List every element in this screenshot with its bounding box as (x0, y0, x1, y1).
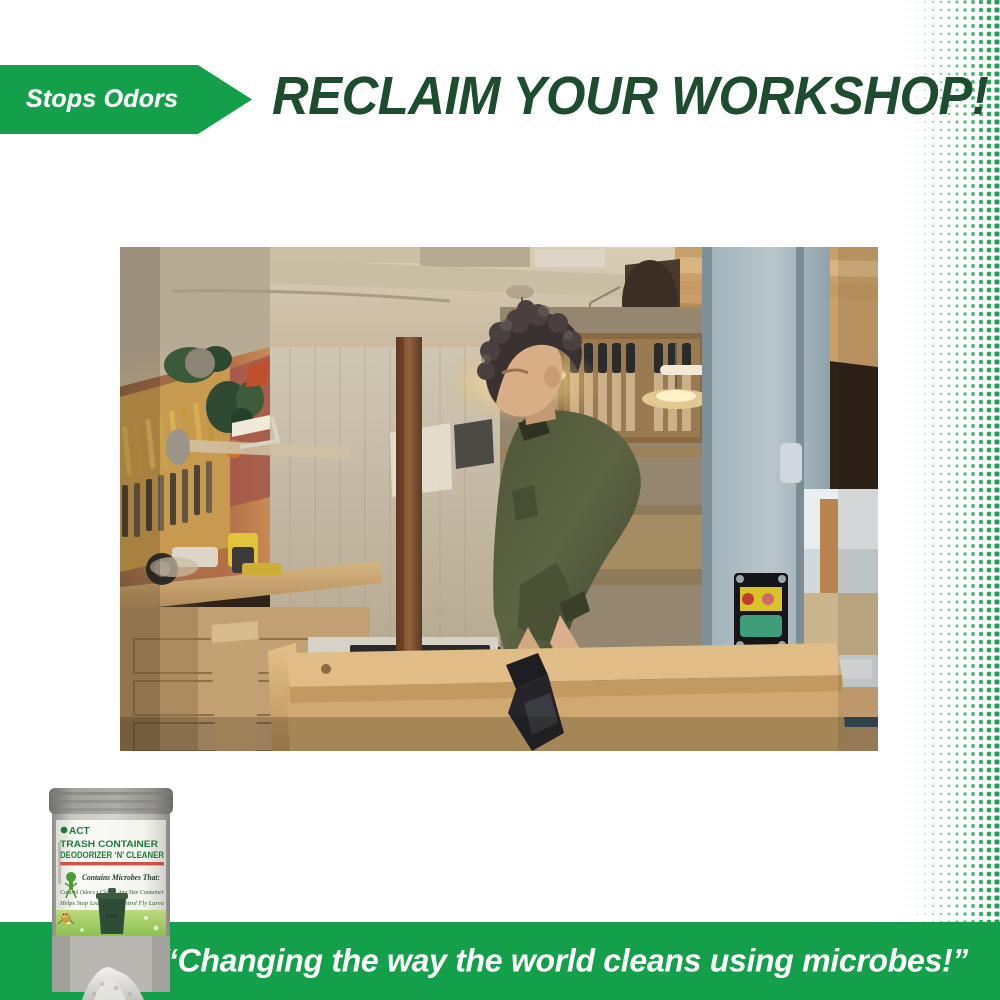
product-bottle: ACT TRASH CONTAINER DEODORIZER ‘N’ CLEAN… (38, 782, 188, 1000)
product-line2: DEODORIZER ‘N’ CLEANER (60, 849, 164, 860)
halftone-dot-pattern (875, 0, 1000, 922)
product-line1: TRASH CONTAINER (60, 838, 158, 849)
badge-label: Stops Odors (0, 85, 178, 114)
workshop-photo (120, 247, 878, 751)
trash-can-illustration (96, 888, 128, 934)
product-bottle-art: ACT TRASH CONTAINER DEODORIZER ‘N’ CLEAN… (38, 782, 188, 1000)
product-subhead: Contains Microbes That: (82, 873, 160, 882)
poster-canvas: Stops Odors RECLAIM YOUR WORKSHOP! (0, 0, 1000, 1000)
halftone-svg (875, 0, 1000, 922)
page-title: RECLAIM YOUR WORKSHOP! (272, 63, 988, 129)
workshop-photo-art (120, 247, 878, 751)
stops-odors-badge: Stops Odors (0, 65, 252, 134)
product-brand: ACT (69, 826, 90, 837)
